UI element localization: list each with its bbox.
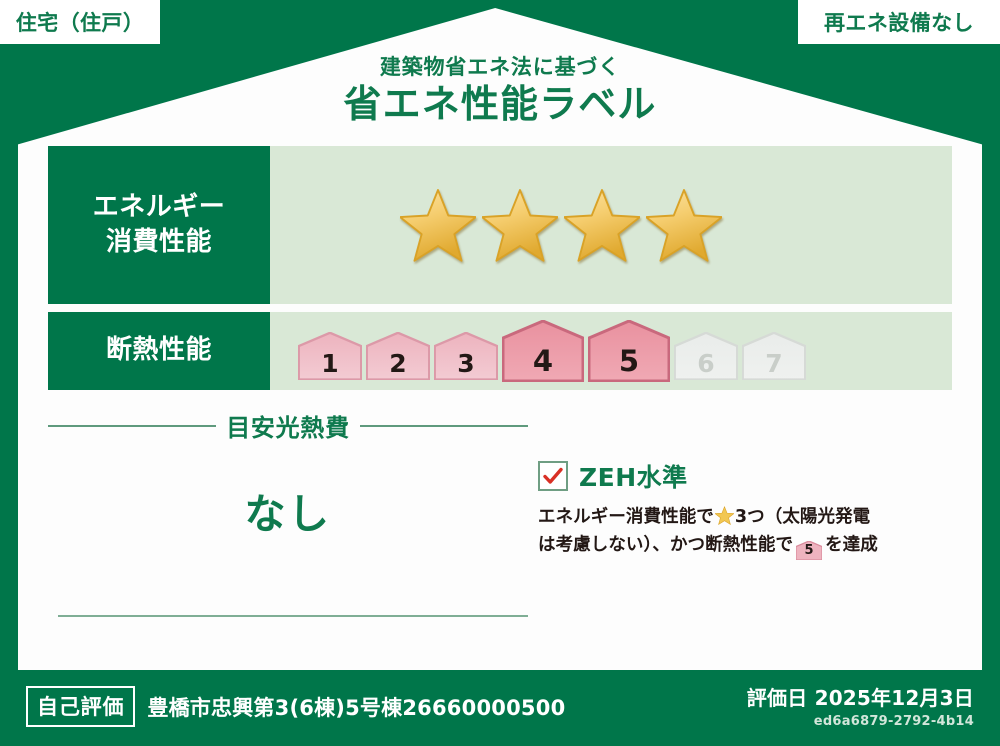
zeh-desc-part2: は考慮しない）、かつ断熱性能で — [538, 535, 793, 555]
self-assessment-badge: 自己評価 — [26, 686, 135, 727]
building-type-tag: 住宅（住戸） — [0, 0, 160, 44]
insulation-grade-value: 3 — [457, 351, 474, 382]
evaluation-id: ed6a6879-2792-4b14 — [747, 714, 974, 729]
heading-rule-right — [360, 425, 528, 427]
title-block: 建築物省エネ法に基づく 省エネ性能ラベル — [0, 56, 1000, 129]
page-title: 省エネ性能ラベル — [0, 81, 1000, 129]
energy-performance-label-cell: エネルギー 消費性能 — [48, 146, 270, 304]
utility-cost-heading-text: 目安光熱費 — [226, 408, 350, 443]
zeh-description: エネルギー消費性能で 3つ（太陽光発電 は考慮しない）、かつ断熱性能で 5 を達… — [538, 503, 950, 560]
star-icon — [482, 187, 558, 263]
zeh-heading: ZEH水準 — [538, 458, 950, 494]
insulation-performance-value-cell: 1234567 — [270, 312, 952, 390]
evaluation-date: 評価日 2025年12月3日 — [747, 682, 974, 711]
utility-cost-value: なし — [48, 480, 528, 540]
energy-label-line1: エネルギー — [93, 190, 226, 225]
label-footer: 自己評価 豊橋市忠興第3(6棟)5号棟26660000500 評価日 2025年… — [0, 670, 1000, 746]
insulation-performance-row: 断熱性能 1234567 — [48, 312, 952, 390]
insulation-grade-value: 5 — [619, 347, 639, 382]
zeh-desc-part1: エネルギー消費性能で — [538, 507, 714, 527]
zeh-block: ZEH水準 エネルギー消費性能で 3つ（太陽光発電 は考慮しない）、かつ断熱性能… — [538, 458, 950, 560]
energy-label-line2: 消費性能 — [106, 225, 212, 260]
heading-rule-left — [48, 425, 216, 427]
evaluation-date-label: 評価日 — [747, 686, 808, 710]
insulation-grade-value: 1 — [321, 351, 338, 382]
insulation-grade-badge: 7 — [742, 332, 806, 382]
insulation-grade-badge: 3 — [434, 332, 498, 382]
insulation-performance-label-cell: 断熱性能 — [48, 312, 270, 390]
insulation-label-text: 断熱性能 — [106, 333, 212, 368]
star-icon-inline — [715, 506, 734, 525]
zeh-title: ZEH水準 — [579, 458, 688, 494]
energy-performance-value-cell — [270, 146, 952, 304]
insulation-grade-badge: 5 — [588, 320, 670, 382]
energy-performance-row: エネルギー 消費性能 — [48, 146, 952, 304]
insulation-grade-value: 2 — [389, 351, 406, 382]
utility-cost-heading: 目安光熱費 — [48, 408, 528, 443]
footer-right-group: 評価日 2025年12月3日 ed6a6879-2792-4b14 — [747, 682, 974, 729]
footer-left-group: 自己評価 豊橋市忠興第3(6棟)5号棟26660000500 — [26, 686, 565, 727]
insulation-grade-badge: 1 — [298, 332, 362, 382]
insulation-grade-value: 7 — [765, 351, 782, 382]
insulation-grade-inline-value: 5 — [796, 541, 822, 560]
insulation-grade-value: 6 — [697, 351, 714, 382]
star-icon — [564, 187, 640, 263]
zeh-desc-part3: を達成 — [825, 535, 878, 555]
star-rating — [400, 187, 722, 263]
property-address: 豊橋市忠興第3(6棟)5号棟26660000500 — [147, 692, 565, 722]
insulation-grade-scale: 1234567 — [298, 320, 806, 382]
title-subtitle: 建築物省エネ法に基づく — [0, 56, 1000, 79]
evaluation-date-value: 2025年12月3日 — [815, 686, 974, 710]
star-icon — [400, 187, 476, 263]
star-icon — [646, 187, 722, 263]
utility-cost-bottom-rule — [58, 615, 528, 617]
insulation-grade-badge: 4 — [502, 320, 584, 382]
insulation-grade-inline: 5 — [796, 541, 822, 560]
check-icon — [538, 461, 568, 491]
energy-performance-label: 住宅（住戸） 再エネ設備なし 建築物省エネ法に基づく 省エネ性能ラベル エネルギ… — [0, 0, 1000, 746]
insulation-grade-badge: 6 — [674, 332, 738, 382]
zeh-desc-stars: 3つ（太陽光発電 — [735, 507, 870, 527]
renewable-energy-tag: 再エネ設備なし — [798, 0, 1000, 44]
insulation-grade-badge: 2 — [366, 332, 430, 382]
insulation-grade-value: 4 — [533, 347, 553, 382]
